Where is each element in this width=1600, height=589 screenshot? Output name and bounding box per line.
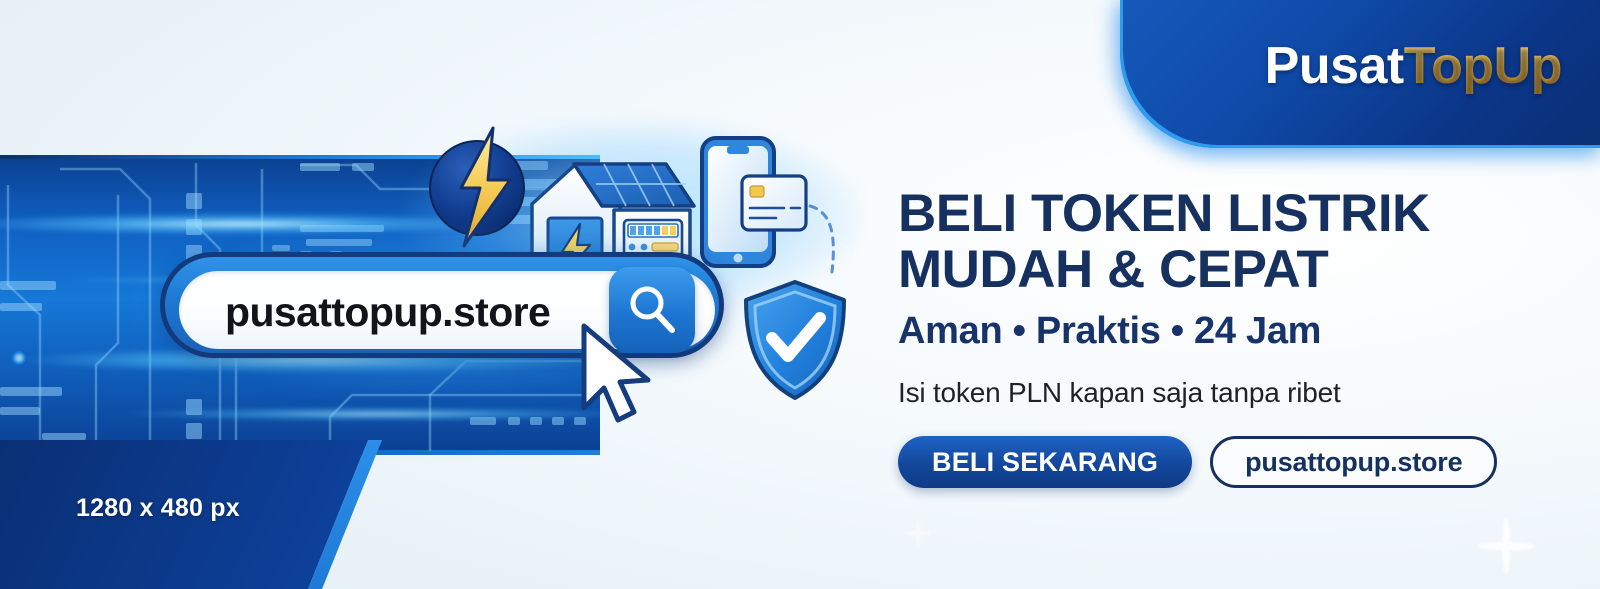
cta-button-row: BELI SEKARANG pusattopup.store: [898, 436, 1497, 488]
headline-subtitle: Aman • Praktis • 24 Jam: [898, 310, 1558, 353]
glow-node: [12, 351, 26, 365]
shield-check-icon: [740, 278, 850, 402]
brand-logo-badge: PusatTopUp: [1120, 0, 1600, 148]
sparkle-icon: [1478, 518, 1534, 574]
headline-line-1: BELI TOKEN LISTRIK: [898, 184, 1430, 243]
marketing-copy: BELI TOKEN LISTRIK MUDAH & CEPAT Aman • …: [898, 186, 1558, 409]
promo-banner: 1280 x 480 px: [0, 0, 1600, 589]
mouse-cursor-icon: [578, 322, 664, 426]
brand-logo-text: PusatTopUp: [1265, 36, 1562, 96]
page-title: BELI TOKEN LISTRIK MUDAH & CEPAT: [898, 186, 1558, 298]
buy-now-button[interactable]: BELI SEKARANG: [898, 436, 1192, 488]
search-input-value: pusattopup.store: [225, 289, 550, 336]
sparkle-icon: [905, 520, 931, 546]
website-url-button[interactable]: pusattopup.store: [1210, 436, 1497, 488]
brand-name-primary: Pusat: [1265, 37, 1404, 95]
headline-line-2: MUDAH & CEPAT: [898, 242, 1558, 298]
headline-description: Isi token PLN kapan saja tanpa ribet: [898, 377, 1558, 409]
dimension-label: 1280 x 480 px: [76, 494, 240, 523]
brand-name-accent: TopUp: [1404, 37, 1562, 95]
